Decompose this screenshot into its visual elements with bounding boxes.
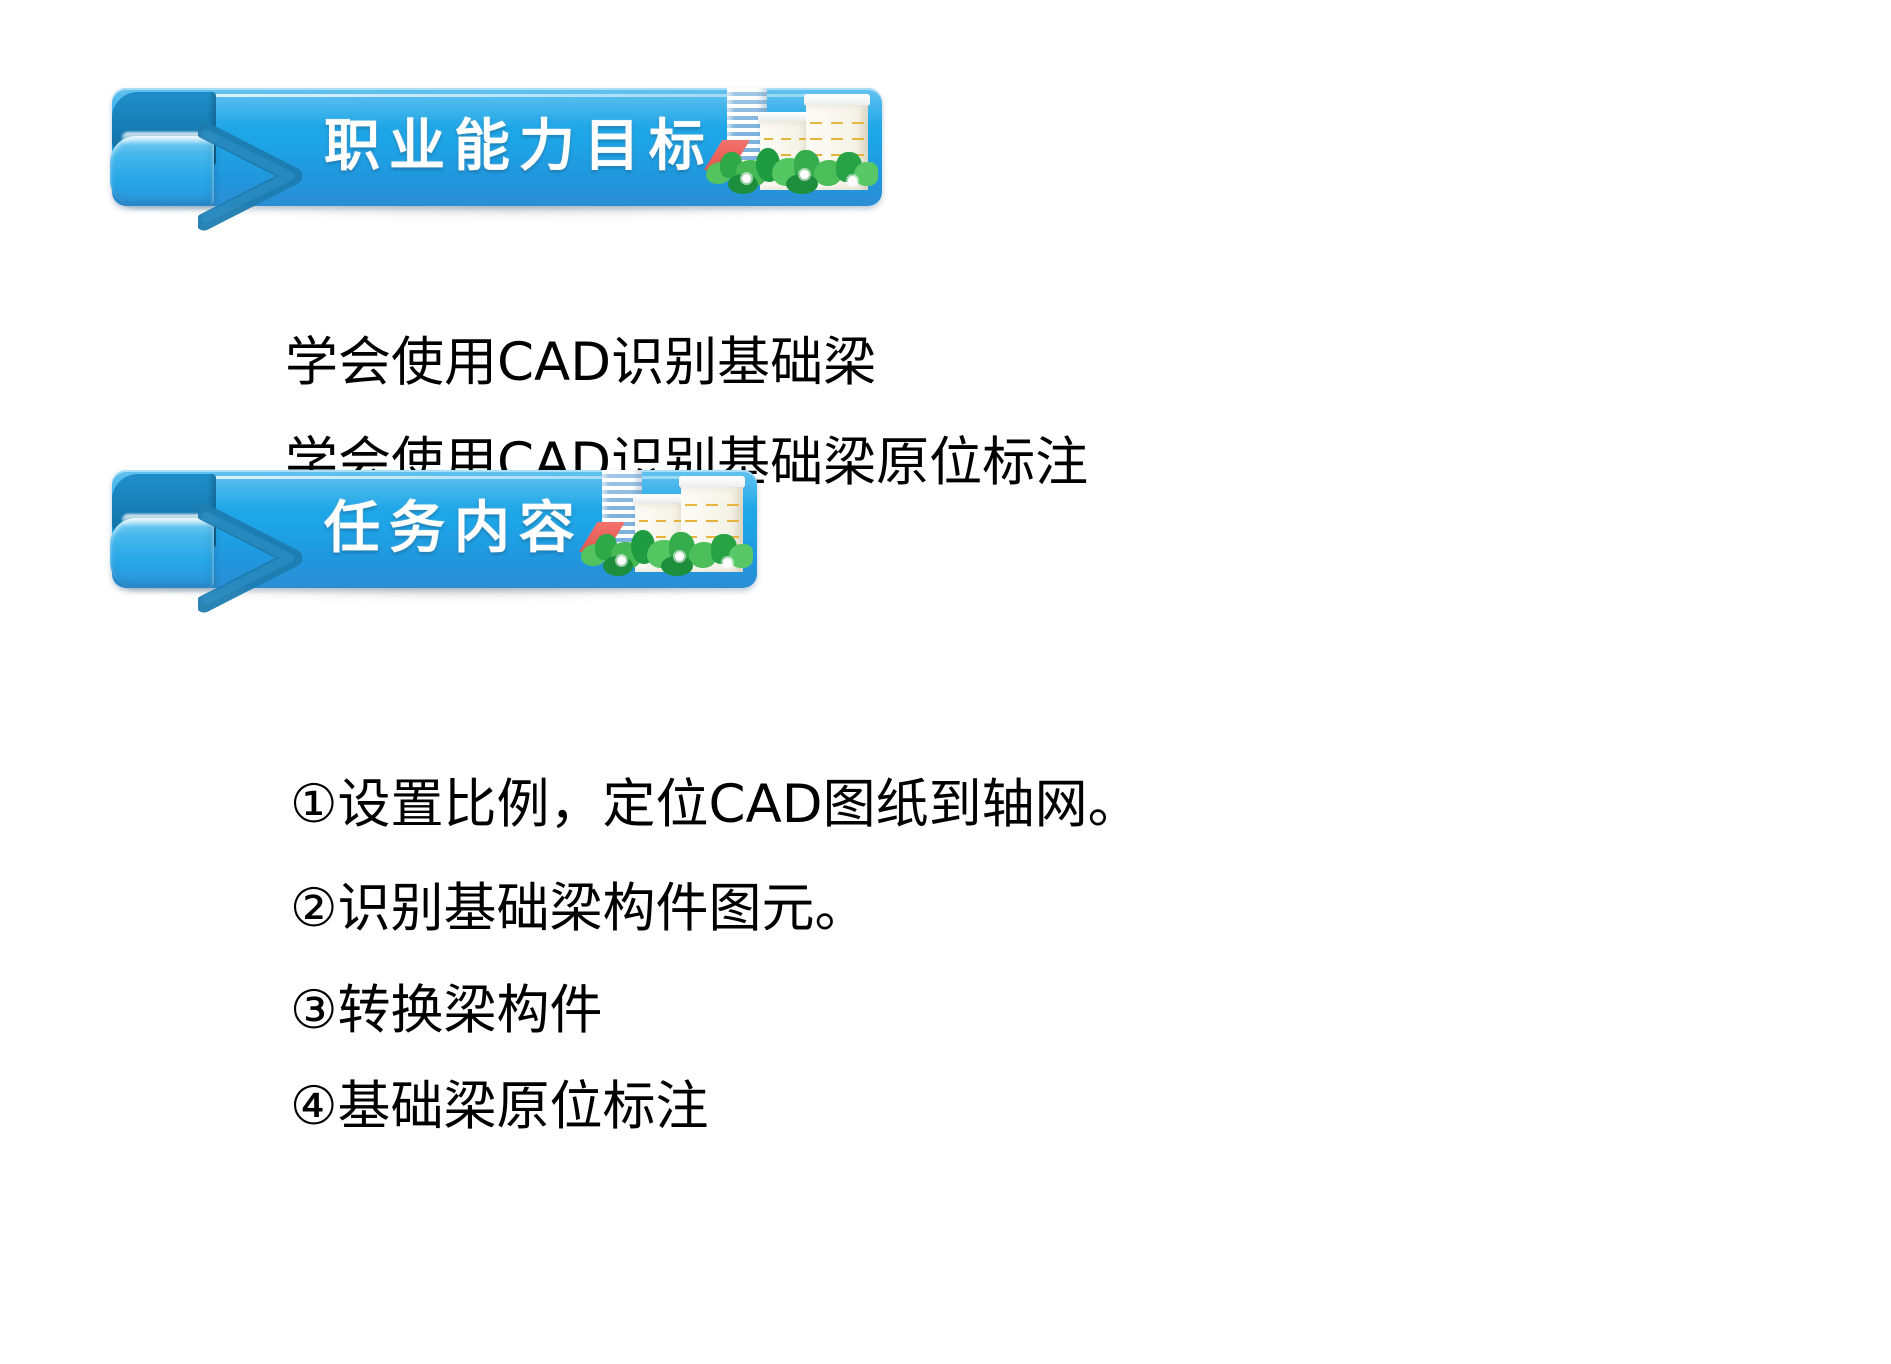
- illustration-group: [702, 88, 878, 206]
- illustration-group: [577, 470, 753, 588]
- banner-title-task-content: 任务内容: [324, 492, 584, 566]
- banner-title-career-goals: 职业能力目标: [324, 110, 714, 184]
- flower: [742, 174, 751, 183]
- goal-line-1: 学会使用CAD识别基础梁: [285, 320, 876, 396]
- window: [781, 138, 791, 140]
- window: [764, 138, 774, 140]
- leaf: [729, 544, 753, 568]
- task-line-3: ③转换梁构件: [290, 968, 603, 1044]
- slide-canvas: 职业能力目标 学会使用CAD识别基础梁 学会使用CAD识别基础梁原位标注: [0, 0, 1891, 1364]
- window: [810, 122, 822, 124]
- window: [852, 138, 864, 140]
- tropical-plants-icon: [577, 530, 753, 588]
- window: [831, 138, 843, 140]
- building-roof: [758, 112, 814, 122]
- task-line-1: ①设置比例，定位CAD图纸到轴网。: [290, 762, 1141, 838]
- window: [831, 122, 843, 124]
- window: [685, 504, 697, 506]
- window-row: [685, 504, 738, 506]
- leaf: [854, 162, 878, 186]
- window: [656, 520, 666, 522]
- banner-career-goals: 职业能力目标: [112, 88, 882, 206]
- window: [639, 520, 649, 522]
- flower: [848, 176, 857, 185]
- building-roof: [804, 94, 871, 106]
- window: [727, 504, 739, 506]
- window-row: [810, 122, 863, 124]
- window: [685, 520, 697, 522]
- task-line-4: ④基础梁原位标注: [290, 1064, 709, 1140]
- banner-task-content: 任务内容: [112, 470, 757, 588]
- window-row: [639, 520, 684, 522]
- flower: [675, 552, 684, 561]
- window-row: [764, 138, 809, 140]
- flower: [617, 556, 626, 565]
- window: [706, 520, 718, 522]
- window-row: [685, 520, 738, 522]
- window-row: [810, 138, 863, 140]
- flower: [800, 170, 809, 179]
- window: [727, 520, 739, 522]
- tropical-plants-icon: [702, 148, 878, 206]
- window: [852, 122, 864, 124]
- building-roof: [679, 476, 746, 488]
- window: [706, 504, 718, 506]
- flower: [723, 558, 732, 567]
- window: [810, 138, 822, 140]
- task-line-2: ②识别基础梁构件图元。: [290, 866, 868, 942]
- building-roof: [633, 494, 689, 504]
